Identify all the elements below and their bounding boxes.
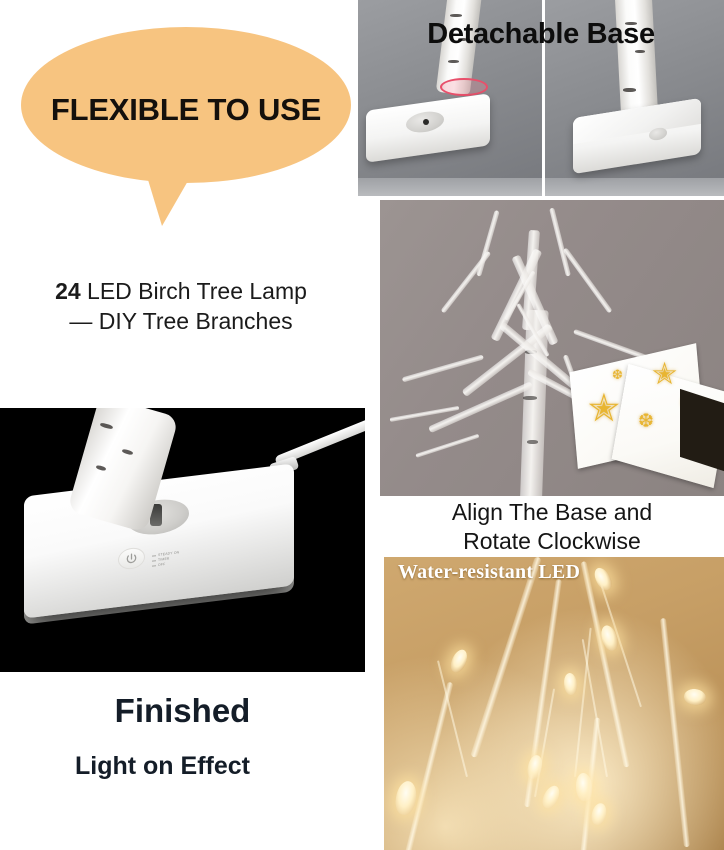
gold-star-icon: ✭ (652, 360, 677, 390)
tick-mark-icon (152, 555, 156, 556)
water-resistant-led-photo: Water-resistant LED (384, 557, 724, 850)
product-title-line-2: — DIY Tree Branches (0, 306, 362, 336)
product-infographic: FLEXIBLE TO USE 24 LED Birch Tree Lamp —… (0, 0, 724, 850)
finished-label: Finished (0, 692, 365, 730)
tree-caption-line-1: Align The Base and (380, 498, 724, 527)
card-shadow-edge (680, 389, 724, 471)
assembled-lamp-base-photo: STEADY ON TIMER OFF (0, 408, 365, 672)
bark-mark (527, 440, 538, 444)
socket-pin (423, 119, 429, 125)
bark-mark (523, 396, 537, 400)
photo-floor (358, 178, 542, 196)
tick-mark-icon (152, 565, 156, 566)
power-icon (124, 551, 139, 567)
tree-caption-line-2: Rotate Clockwise (380, 527, 724, 556)
detachable-base-photo-pair: Detachable Base (358, 0, 724, 196)
light-on-effect-label: Light on Effect (0, 752, 325, 781)
product-title-line-1-rest: LED Birch Tree Lamp (81, 278, 307, 304)
bark-mark (450, 14, 462, 17)
tree-instruction-caption: Align The Base and Rotate Clockwise (380, 498, 724, 556)
water-resistant-led-title: Water-resistant LED (398, 561, 580, 584)
alignment-highlight-ring (440, 78, 488, 96)
product-title: 24 LED Birch Tree Lamp — DIY Tree Branch… (0, 276, 362, 336)
bark-mark (623, 88, 636, 92)
birch-tree-photo: ✭ ✭ ❆ ❆ ❆ (380, 200, 724, 496)
gold-snowflake-icon: ❆ (612, 368, 623, 381)
tick-mark-icon (152, 560, 156, 561)
bark-mark (448, 60, 459, 63)
photo-floor (545, 178, 724, 196)
mode-label-off-text: OFF (158, 562, 165, 567)
gold-star-icon: ✭ (588, 390, 620, 428)
led-count: 24 (55, 278, 81, 304)
gold-snowflake-icon: ❆ (638, 412, 654, 431)
callout-text: FLEXIBLE TO USE (14, 92, 358, 128)
product-title-line-1: 24 LED Birch Tree Lamp (0, 276, 362, 306)
detachable-base-title: Detachable Base (358, 18, 724, 51)
flexible-to-use-callout: FLEXIBLE TO USE (14, 20, 354, 230)
